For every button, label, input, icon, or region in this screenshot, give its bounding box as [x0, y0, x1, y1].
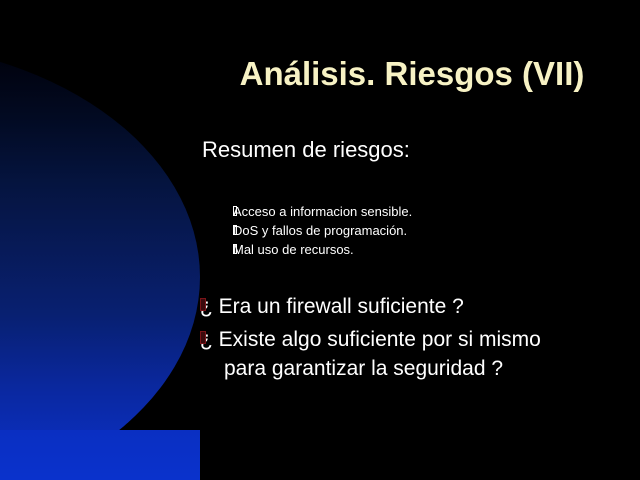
slide-subtitle: Resumen de riesgos:	[202, 137, 410, 163]
list-item: ¿ Existe algo suficiente por si mismo pa…	[200, 325, 630, 383]
list-item: DoS y fallos de programación.	[233, 221, 412, 240]
slide-title: Análisis. Riesgos (VII)	[200, 56, 624, 92]
list-item: ¿ Era un firewall suficiente ?	[200, 292, 630, 321]
question-line-1: ¿ Existe algo suficiente por si mismo	[200, 328, 541, 351]
list-item-label: Mal uso de recursos.	[233, 242, 354, 257]
list-item-label: DoS y fallos de programación.	[233, 223, 407, 238]
list-item-label: Acceso a informacion sensible.	[233, 204, 412, 219]
list-item: Mal uso de recursos.	[233, 240, 412, 259]
question-line-1: ¿ Era un firewall suficiente ?	[200, 295, 464, 318]
risk-summary-list: Acceso a informacion sensible. DoS y fal…	[233, 202, 412, 259]
slide-content: Análisis. Riesgos (VII) Resumen de riesg…	[0, 0, 640, 480]
list-item: Acceso a informacion sensible.	[233, 202, 412, 221]
question-line-2: para garantizar la seguridad ?	[200, 354, 630, 383]
question-list: ¿ Era un firewall suficiente ? ¿ Existe …	[200, 292, 630, 387]
presentation-slide: Análisis. Riesgos (VII) Resumen de riesg…	[0, 0, 640, 480]
